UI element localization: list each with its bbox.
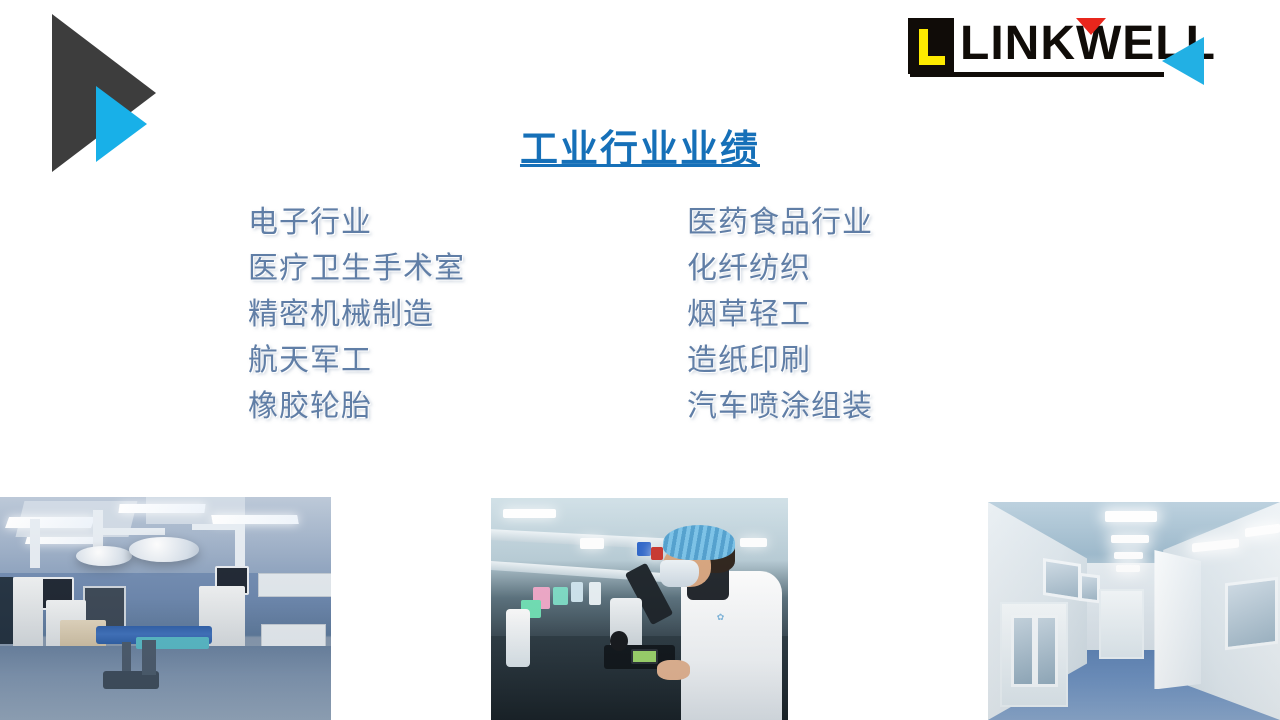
cleanroom-passbox-window [1011, 615, 1035, 686]
logo-square-mark [908, 18, 954, 74]
industry-list: 电子行业 医疗卫生手术室 精密机械制造 航天军工 橡胶轮胎 医药食品行业 化纤纺… [248, 200, 1008, 430]
page-title: 工业行业业绩 [0, 118, 1280, 173]
operating-table-column [142, 640, 155, 676]
cleanroom-window [1043, 558, 1081, 601]
or-equipment-rack [261, 624, 326, 648]
operating-room-scene [0, 497, 331, 720]
lab-vial [589, 582, 601, 604]
lab-ceiling-light [740, 538, 767, 547]
list-item: 电子行业 [248, 200, 465, 246]
logo-cyan-triangle-icon [1162, 37, 1204, 85]
cleanroom-ceiling-light [1114, 552, 1143, 559]
list-item: 烟草轻工 [687, 292, 873, 338]
surgical-lamp [129, 537, 199, 562]
technician-face-mask [660, 560, 699, 587]
or-equipment-rack [258, 573, 331, 597]
list-item: 汽车喷涂组装 [687, 384, 873, 430]
lab-vial [553, 587, 568, 605]
lab-reagent-box [651, 547, 663, 560]
logo-underline [910, 72, 1164, 77]
list-item: 橡胶轮胎 [248, 384, 465, 430]
logo-red-triangle-icon [1076, 18, 1106, 35]
list-item: 化纤纺织 [687, 246, 873, 292]
industry-column-right: 医药食品行业 化纤纺织 烟草轻工 造纸印刷 汽车喷涂组装 [687, 200, 873, 430]
lab-ceiling-light [503, 509, 556, 518]
lab-bottle [506, 609, 530, 667]
technician-hand [657, 660, 690, 680]
cleanroom-scene [988, 502, 1280, 720]
technician-hair-cap [663, 525, 734, 561]
laboratory-scene: ✿ [491, 498, 788, 720]
industry-column-left: 电子行业 医疗卫生手术室 精密机械制造 航天军工 橡胶轮胎 [248, 200, 465, 430]
cleanroom-column [1154, 550, 1201, 690]
microscope-knob [610, 631, 628, 651]
cleanroom-window [1225, 577, 1278, 651]
or-light-arm [99, 528, 165, 535]
list-item: 造纸印刷 [687, 338, 873, 384]
logo-l-glyph-icon [919, 29, 945, 65]
list-item: 精密机械制造 [248, 292, 465, 338]
list-item: 医疗卫生手术室 [248, 246, 465, 292]
lab-vial [571, 582, 583, 602]
or-floor [0, 646, 331, 720]
list-item: 航天军工 [248, 338, 465, 384]
lab-coat-emblem-icon: ✿ [717, 613, 725, 623]
linkwell-logo[interactable]: LINKWELL [908, 13, 1228, 81]
presentation-slide: LINKWELL 工业行业业绩 电子行业 医疗卫生手术室 精密机械制造 航天军工… [0, 0, 1280, 720]
cleanroom-door [1099, 589, 1144, 658]
or-ceiling-light [119, 504, 206, 513]
lab-ceiling-light [580, 538, 604, 549]
or-door [0, 577, 13, 644]
cleanroom-ceiling-light [1116, 565, 1139, 572]
operating-room-photo [0, 497, 331, 720]
or-light-arm [235, 524, 245, 569]
cleanroom-window [1079, 573, 1100, 603]
cleanroom-ceiling-light [1105, 511, 1158, 522]
laboratory-microscope-photo: ✿ [491, 498, 788, 720]
or-ceiling-light [5, 517, 95, 528]
microscope-display [631, 649, 659, 664]
cleanroom-corridor-photo [988, 502, 1280, 720]
cleanroom-passbox-window [1035, 615, 1059, 686]
or-cart [13, 577, 43, 653]
list-item: 医药食品行业 [687, 200, 873, 246]
or-ceiling-light [211, 515, 299, 524]
or-light-arm [30, 519, 40, 568]
cleanroom-ceiling-light [1111, 535, 1149, 544]
lab-reagent-box [637, 542, 652, 555]
